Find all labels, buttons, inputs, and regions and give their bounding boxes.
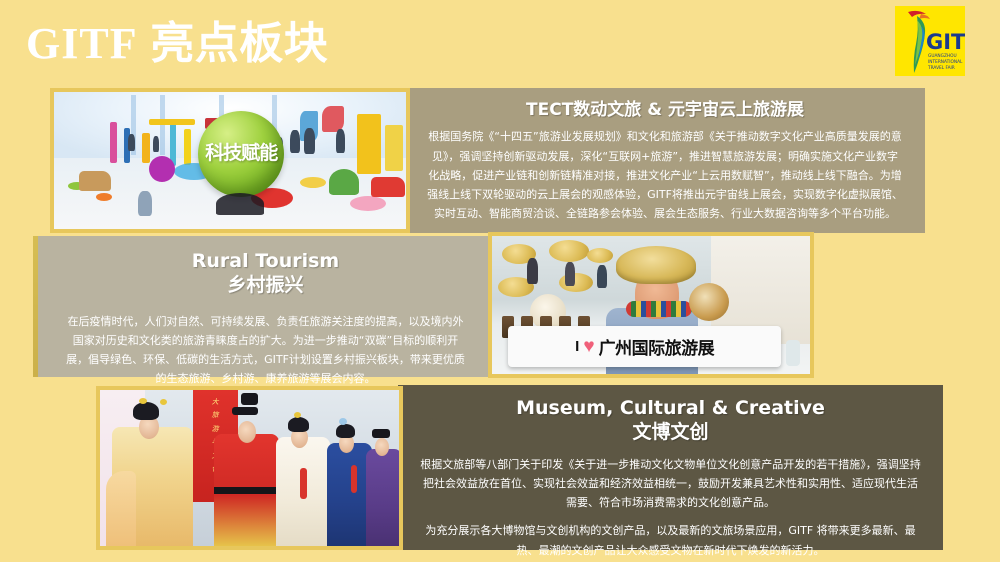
page-title-en: GITF [26,19,138,68]
panel-tect: TECT数动文旅 & 元宇宙云上旅游展 根据国务院《“十四五”旅游业发展规划》和… [405,88,925,233]
photo-tech-expo: 科技赋能 [50,88,410,233]
svg-text:INTERNATIONAL: INTERNATIONAL [928,59,963,65]
panel-tect-title: TECT数动文旅 & 元宇宙云上旅游展 [526,88,804,121]
svg-text:GITF: GITF [926,30,965,54]
slide-canvas: GITF 亮点板块 GITF GUANGZHOU INTERNATIONAL T… [0,0,1000,562]
gitf-logo-mark: GITF GUANGZHOU INTERNATIONAL TRAVEL FAIR [895,6,965,76]
panel-rural-title-en: Rural Tourism [192,250,339,274]
svg-text:GUANGZHOU: GUANGZHOU [928,53,957,59]
panel-museum-body-para1: 根据文旅部等八部门关于印发《关于进一步推动文化文物单位文化创意产品开发的若干措施… [420,458,921,510]
panel-museum-body: 根据文旅部等八部门关于印发《关于进一步推动文化文物单位文化创意产品开发的若干措施… [398,445,943,560]
panel-tect-body: 根据国务院《“十四五”旅游业发展规划》和文化和旅游部《关于推动数字文化产业高质量… [405,121,925,223]
panel-museum-body-para2: 为充分展示各大博物馆与文创机构的文创产品，以及最新的文旅场景应用，GITF 将带… [418,521,923,560]
svg-text:TRAVEL FAIR: TRAVEL FAIR [927,65,955,71]
page-title: GITF 亮点板块 [26,22,328,66]
gitf-logo: GITF GUANGZHOU INTERNATIONAL TRAVEL FAIR [895,6,965,76]
page-title-zh: 亮点板块 [150,18,328,69]
photo-rural-booth: I ♥ 广州国际旅游展 [488,232,814,378]
photo-hanfu-show: 大旅游 与文化 [96,386,403,550]
panel-rural-title-zh: 乡村振兴 [192,274,339,298]
panel-museum-title-en: Museum, Cultural & Creative [516,397,825,421]
panel-museum-cultural: Museum, Cultural & Creative 文博文创 根据文旅部等八… [398,385,943,550]
panel-rural-body: 在后疫情时代，人们对自然、可持续发展、负责任旅游关注度的提高，以及境内外国家对历… [38,298,493,389]
panel-rural-title: Rural Tourism 乡村振兴 [192,236,339,298]
panel-museum-title-zh: 文博文创 [516,421,825,445]
panel-rural-tourism: Rural Tourism 乡村振兴 在后疫情时代，人们对自然、可持续发展、负责… [38,236,493,377]
panel-museum-title: Museum, Cultural & Creative 文博文创 [516,385,825,445]
